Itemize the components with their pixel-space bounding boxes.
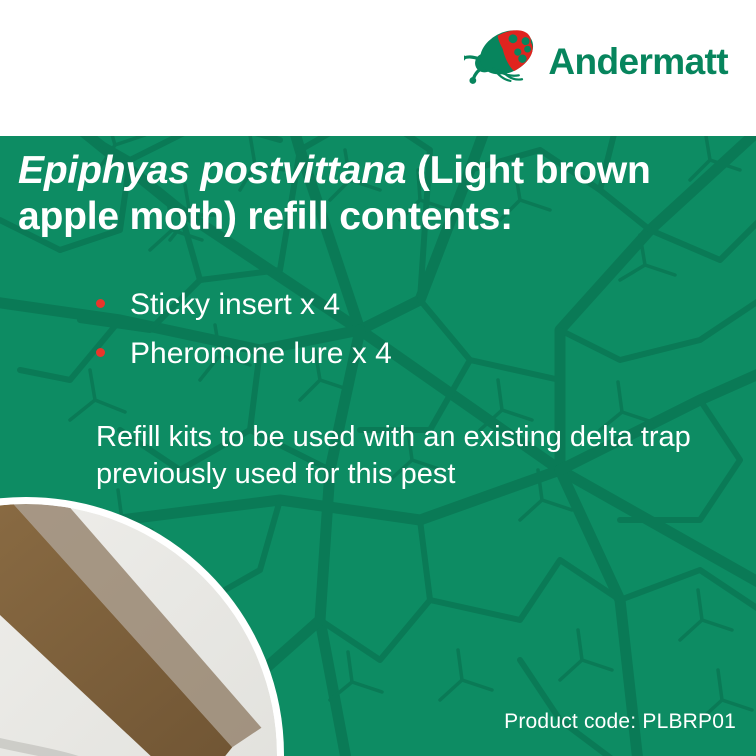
contents-list: Sticky insert x 4 Pheromone lure x 4 [96, 288, 392, 386]
usage-note: Refill kits to be used with an existing … [96, 419, 716, 493]
bullet-dot-icon [96, 348, 105, 357]
list-item: Pheromone lure x 4 [96, 337, 392, 370]
brand-logo: Andermatt [464, 28, 728, 94]
product-info-graphic: Andermatt Epiphyas postvittana (Light br… [0, 0, 756, 756]
list-item-label: Sticky insert x 4 [130, 288, 340, 321]
list-item: Sticky insert x 4 [96, 288, 392, 321]
product-code: Product code: PLBRP01 [504, 710, 736, 734]
ladybug-icon [464, 28, 538, 94]
page-title: Epiphyas postvittana (Light brown apple … [18, 148, 748, 240]
list-item-label: Pheromone lure x 4 [130, 337, 392, 370]
brand-name: Andermatt [548, 43, 728, 80]
header-band: Andermatt [0, 0, 756, 136]
species-name: Epiphyas postvittana [18, 149, 406, 192]
bullet-dot-icon [96, 299, 105, 308]
